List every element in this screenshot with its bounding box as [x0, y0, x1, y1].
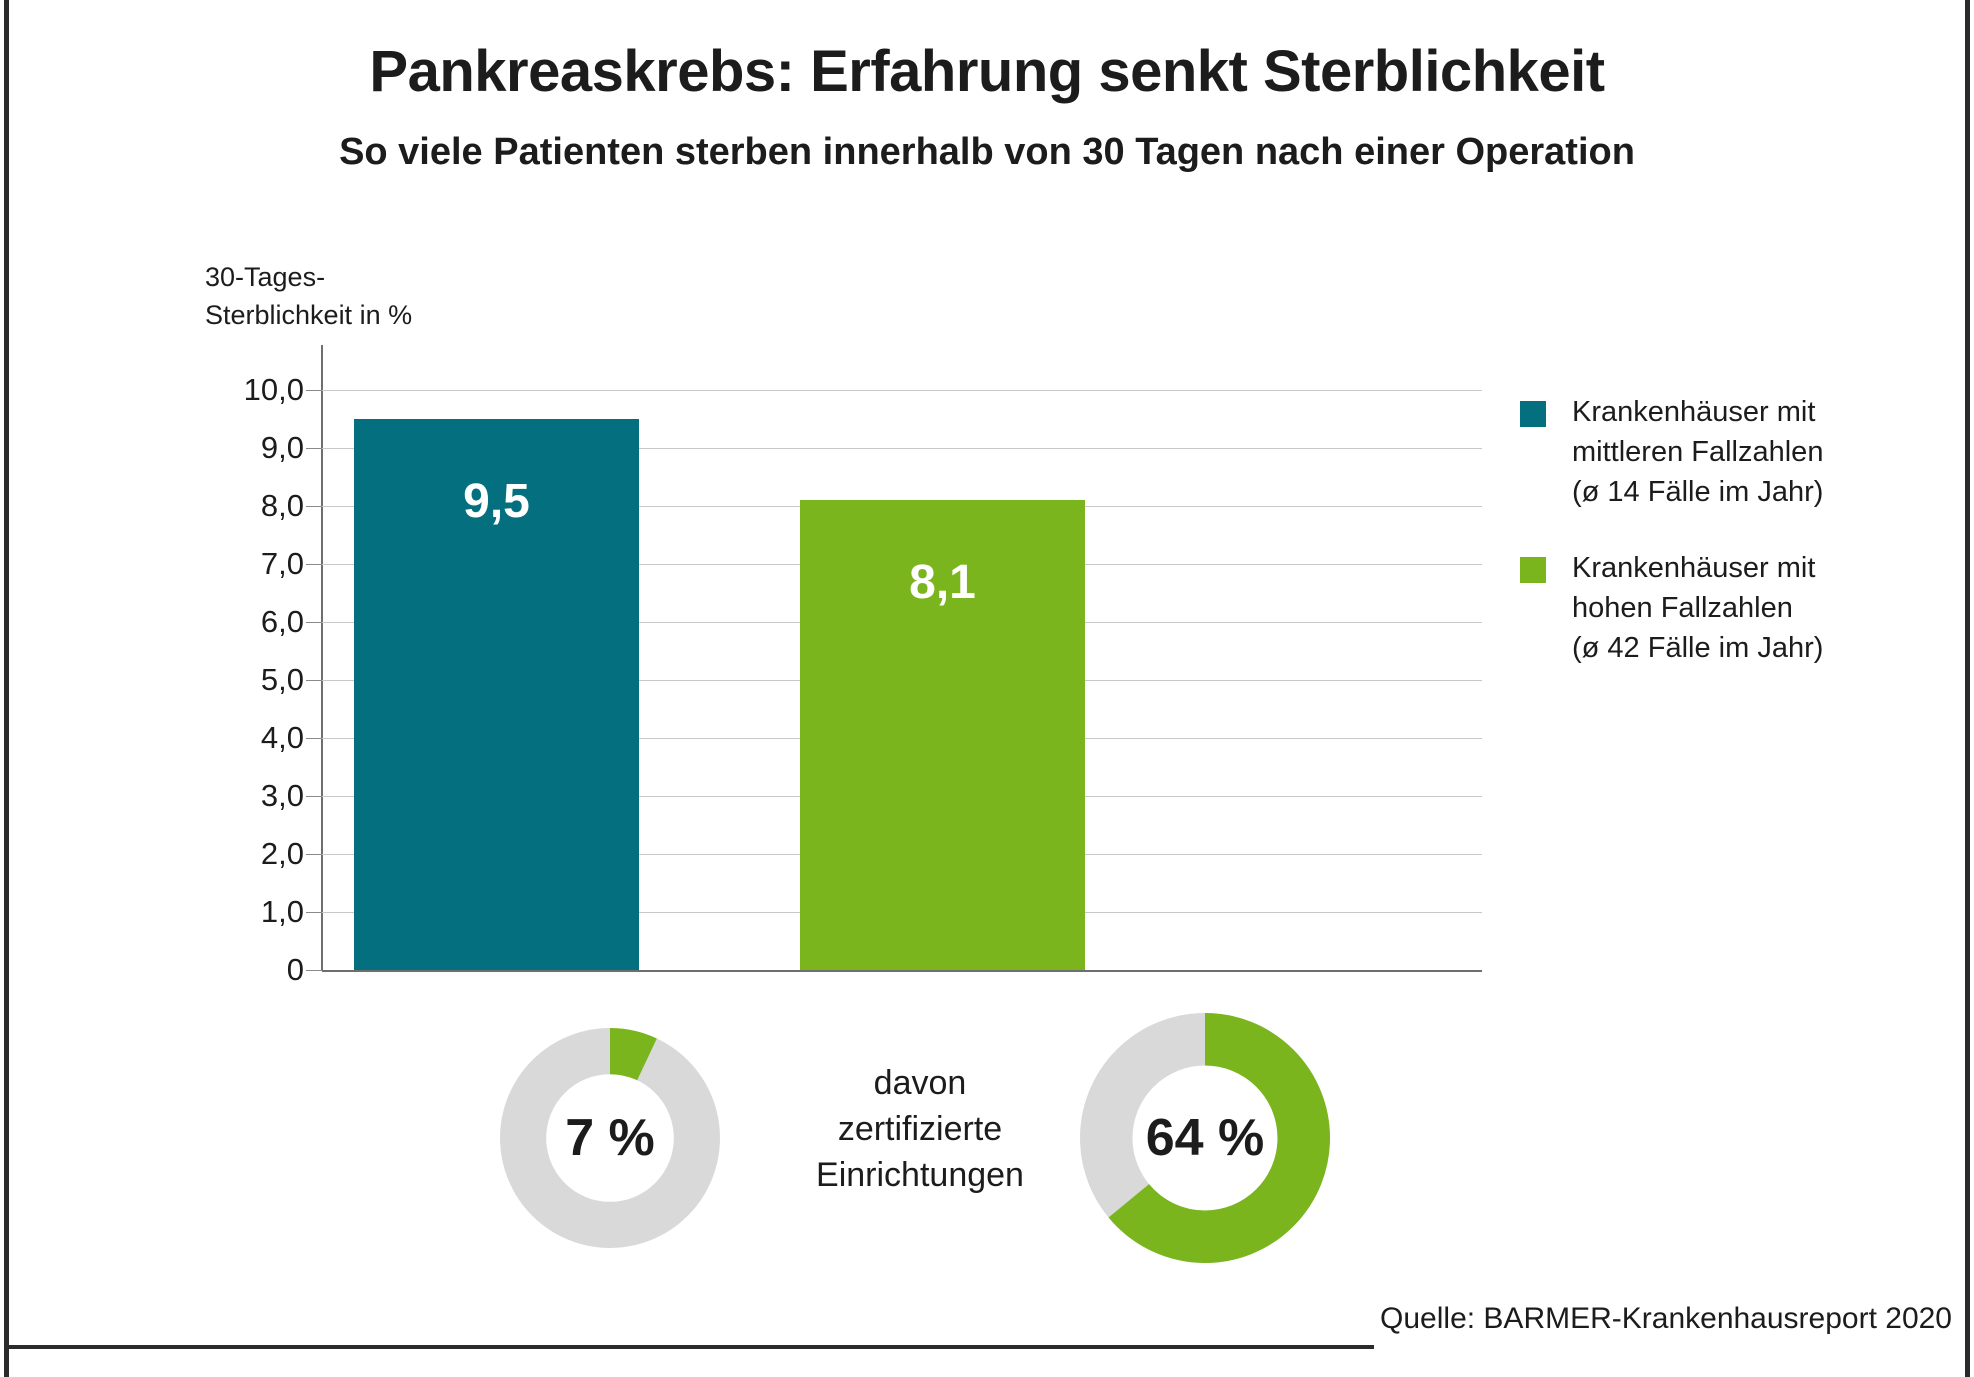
y-axis-line: [321, 345, 323, 970]
infographic-root: Pankreaskrebs: Erfahrung senkt Sterblich…: [0, 0, 1974, 1377]
y-axis-tick-label: 8,0: [144, 488, 304, 524]
y-axis-tick-label: 6,0: [144, 604, 304, 640]
legend-swatch-icon: [1520, 401, 1546, 427]
legend-swatch-icon: [1520, 557, 1546, 583]
legend-entry-2[interactable]: Krankenhäuser mithohen Fallzahlen(ø 42 F…: [1520, 548, 1940, 668]
y-axis-tick: [306, 738, 322, 739]
gridline: [322, 390, 1482, 391]
frame-border-right: [1965, 0, 1970, 1377]
y-axis-tick-label: 10,0: [144, 372, 304, 408]
y-axis-tick-label: 2,0: [144, 836, 304, 872]
y-axis-tick-label: 5,0: [144, 662, 304, 698]
y-axis-title: 30-Tages- Sterblichkeit in %: [205, 258, 535, 334]
y-axis-tick: [306, 506, 322, 507]
legend-label-line3: (ø 42 Fälle im Jahr): [1572, 628, 1940, 668]
y-axis-tick: [306, 854, 322, 855]
source-note: Quelle: BARMER-Krankenhausreport 2020: [1380, 1302, 1952, 1336]
y-axis-tick-label: 1,0: [144, 894, 304, 930]
chart-title: Pankreaskrebs: Erfahrung senkt Sterblich…: [0, 38, 1974, 105]
donut-caption-line2: zertifizierte: [760, 1106, 1080, 1152]
frame-border-left: [4, 0, 9, 1377]
legend-label-line1: Krankenhäuser mit: [1572, 392, 1940, 432]
gridline: [322, 970, 1482, 972]
y-axis-tick: [306, 564, 322, 565]
bar-value-label: 8,1: [800, 555, 1085, 610]
plot-area: 10,09,08,07,06,05,04,03,02,01,00 9,58,1: [322, 390, 1482, 970]
y-axis-tick-label: 7,0: [144, 546, 304, 582]
bar-2: 8,1: [800, 500, 1085, 970]
bar-value-label: 9,5: [354, 474, 639, 529]
y-axis-tick-label: 3,0: [144, 778, 304, 814]
chart-subtitle: So viele Patienten sterben innerhalb von…: [0, 131, 1974, 174]
y-axis-title-line2: Sterblichkeit in %: [205, 296, 535, 334]
legend-label-line2: mittleren Fallzahlen: [1572, 432, 1940, 472]
y-axis-tick-label: 0: [144, 952, 304, 988]
y-axis-tick: [306, 680, 322, 681]
frame-border-bottom: [9, 1345, 1374, 1349]
donut-value-label: 7 %: [500, 1028, 720, 1248]
legend: Krankenhäuser mitmittleren Fallzahlen(ø …: [1520, 392, 1940, 704]
legend-label-line3: (ø 14 Fälle im Jahr): [1572, 472, 1940, 512]
legend-label-line1: Krankenhäuser mit: [1572, 548, 1940, 588]
y-axis-tick: [306, 912, 322, 913]
donut-value-label: 64 %: [1080, 1013, 1330, 1263]
donut-chart-certified-high: 64 %: [1080, 1013, 1330, 1263]
bar-1: 9,5: [354, 419, 639, 970]
y-axis-tick: [306, 622, 322, 623]
y-axis-tick-label: 4,0: [144, 720, 304, 756]
y-axis-title-line1: 30-Tages-: [205, 262, 325, 292]
y-axis-tick: [306, 970, 322, 971]
legend-label-line2: hohen Fallzahlen: [1572, 588, 1940, 628]
donut-caption-line3: Einrichtungen: [760, 1152, 1080, 1198]
donut-caption: davon zertifizierte Einrichtungen: [760, 1060, 1080, 1198]
donut-caption-line1: davon: [760, 1060, 1080, 1106]
y-axis-tick: [306, 448, 322, 449]
legend-entry-1[interactable]: Krankenhäuser mitmittleren Fallzahlen(ø …: [1520, 392, 1940, 512]
y-axis-tick-label: 9,0: [144, 430, 304, 466]
y-axis-tick: [306, 796, 322, 797]
donut-chart-certified-medium: 7 %: [500, 1028, 720, 1248]
y-axis-tick: [306, 390, 322, 391]
